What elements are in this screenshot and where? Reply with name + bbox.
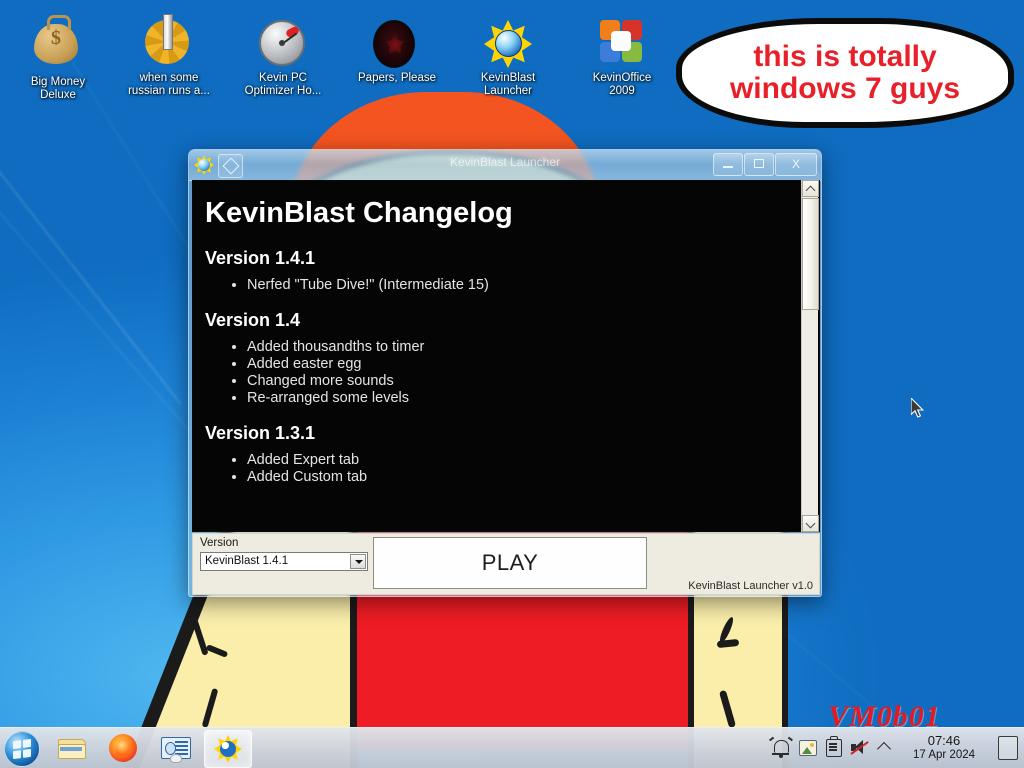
changelog-item: Nerfed "Tube Dive!" (Intermediate 15) [247,277,803,294]
changelog-version-heading: Version 1.3.1 [205,423,803,444]
speech-bubble-line-1: this is totally [753,41,936,73]
desktop-icon-label-2: Deluxe [6,89,110,102]
folder-icon [57,734,85,762]
minimize-icon [723,166,733,168]
launcher-bottom-bar: Version KevinBlast 1.4.1 PLAY KevinBlast… [192,533,820,595]
chevron-down-icon [806,519,816,529]
changelog-list: Nerfed "Tube Dive!" (Intermediate 15) [205,277,803,294]
desktop-icon-label-2: russian runs a... [117,85,221,98]
changelog-item: Re-arranged some levels [247,390,803,407]
taskbar-clock[interactable]: 07:46 17 Apr 2024 [898,733,990,763]
launcher-version-footer: KevinBlast Launcher v1.0 [688,580,813,592]
picture-tray-icon[interactable] [794,728,820,768]
windows-logo-icon [13,739,31,759]
changelog-item: Added easter egg [247,356,803,373]
changelog-heading: KevinBlast Changelog [205,197,803,230]
system-tray: 07:46 17 Apr 2024 [768,728,1024,768]
changelog-item: Added Expert tab [247,452,803,469]
desktop-icon-label: KevinOffice [570,72,674,85]
mouse-cursor [911,398,925,419]
kevinblast-launcher-window[interactable]: KevinBlast Launcher X KevinBlast Changel… [188,149,822,597]
card-app-icon [161,734,189,762]
diamond-menu-button[interactable] [218,154,243,178]
desktop-icon-label: when some [117,72,221,85]
changelog-item: Changed more sounds [247,373,803,390]
desktop-icon-label-2: Launcher [456,85,560,98]
close-icon: X [776,156,816,172]
speed-gauge-icon [259,20,307,68]
clipboard-icon[interactable] [820,728,846,768]
speech-bubble-annotation: this is totally windows 7 guys [676,18,1014,128]
window-control-buttons: X [712,153,817,176]
changelog-list: Added Expert tab Added Custom tab [205,452,803,486]
scrollbar-thumb[interactable] [802,198,819,310]
desktop-icon-when-some-russian[interactable]: when some russian runs a... [117,14,221,98]
version-label: Version [200,537,238,549]
start-button[interactable] [4,731,40,767]
desktop-icon-label-2: 2009 [570,85,674,98]
speech-bubble-line-2: windows 7 guys [730,73,960,105]
changelog-item: Added thousandths to timer [247,339,803,356]
play-button[interactable]: PLAY [373,537,647,589]
desktop-icon-kevinoffice-2009[interactable]: KevinOffice 2009 [570,14,674,98]
taskbar-app[interactable] [152,730,198,766]
speaker-muted-icon[interactable] [846,728,872,768]
clock-time: 07:46 [898,733,990,748]
taskbar-kevinblast[interactable] [204,730,252,768]
scroll-up-button[interactable] [802,180,819,197]
changelog-version-heading: Version 1.4 [205,310,803,331]
show-hidden-icons-chevron[interactable] [872,728,898,768]
taskbar[interactable]: 07:46 17 Apr 2024 [0,727,1024,768]
show-desktop-button[interactable] [998,736,1018,760]
desktop-icon-label: Kevin PC [231,72,335,85]
desktop-icon-kevin-pc-optimizer[interactable]: Kevin PC Optimizer Ho... [231,14,335,98]
money-bag-icon [34,24,82,72]
version-select-value: KevinBlast 1.4.1 [205,555,288,567]
kevinblast-sun-icon [214,735,242,763]
changelog-version-heading: Version 1.4.1 [205,248,803,269]
office-squares-icon [598,20,646,68]
desktop-icon-label: KevinBlast [456,72,560,85]
minimize-button[interactable] [713,153,743,176]
changelog-content-pane[interactable]: KevinBlast Changelog Version 1.4.1 Nerfe… [192,180,820,532]
changelog-item: Added Custom tab [247,469,803,486]
kevinblast-sun-icon [194,155,214,175]
maximize-icon [754,159,764,168]
taskbar-firefox[interactable] [100,730,146,766]
close-button[interactable]: X [775,153,817,176]
vertical-scrollbar[interactable] [801,180,818,532]
scroll-down-button[interactable] [802,515,819,532]
gold-gear-icon [145,20,193,68]
desktop-icon-label: Papers, Please [345,72,449,85]
dark-seal-icon [373,20,421,68]
desktop-icon-label-2: Optimizer Ho... [231,85,335,98]
desktop-icon-kevinblast-launcher[interactable]: KevinBlast Launcher [456,14,560,98]
chevron-up-icon [806,186,816,196]
scrollbar-track[interactable] [802,310,818,515]
notification-bell-icon[interactable] [768,728,794,768]
changelog-document: KevinBlast Changelog Version 1.4.1 Nerfe… [193,181,819,486]
window-titlebar[interactable]: KevinBlast Launcher X [189,150,821,181]
taskbar-explorer[interactable] [48,730,94,766]
desktop-icon-papers-please[interactable]: Papers, Please [345,14,449,85]
chevron-down-icon[interactable] [350,554,366,569]
clock-date: 17 Apr 2024 [898,748,990,763]
firefox-icon [109,734,137,762]
changelog-list: Added thousandths to timer Added easter … [205,339,803,407]
version-select[interactable]: KevinBlast 1.4.1 [200,552,368,571]
kevinblast-sun-icon [484,20,532,68]
maximize-button[interactable] [744,153,774,176]
desktop-icon-label: Big Money [6,76,110,89]
desktop-icon-big-money-deluxe[interactable]: Big Money Deluxe [6,14,110,102]
